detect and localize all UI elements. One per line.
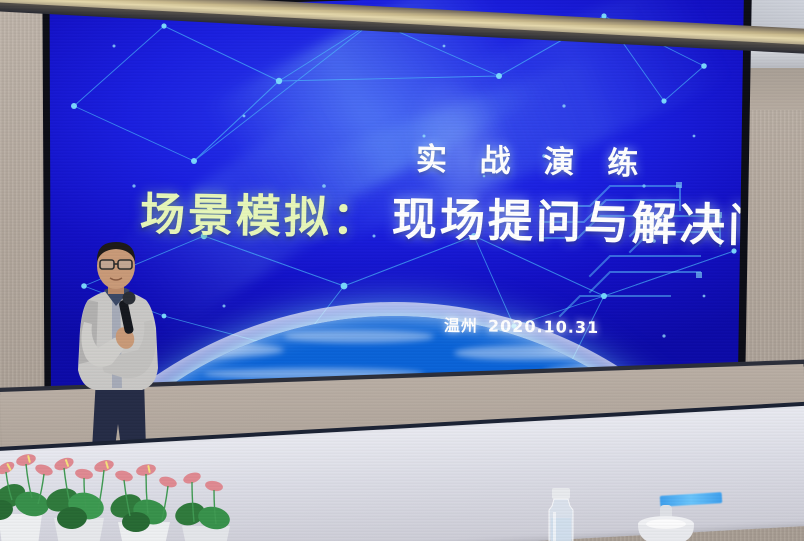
conference-stage-photo: 瑞浦能源 REPT 实 战 演 练 场景模拟：现场提问与解决问题 温州2020.…	[0, 0, 804, 541]
plant-pot	[182, 526, 230, 541]
bottle-highlight	[553, 512, 556, 541]
circuit-trace-graphic	[530, 176, 740, 356]
microphone-head-icon	[123, 292, 136, 305]
tea-cup	[630, 505, 702, 541]
cup-highlight	[646, 519, 686, 529]
anthurium-plant-row	[0, 430, 232, 541]
water-bottle	[540, 488, 582, 541]
bottle-cap	[552, 488, 570, 499]
